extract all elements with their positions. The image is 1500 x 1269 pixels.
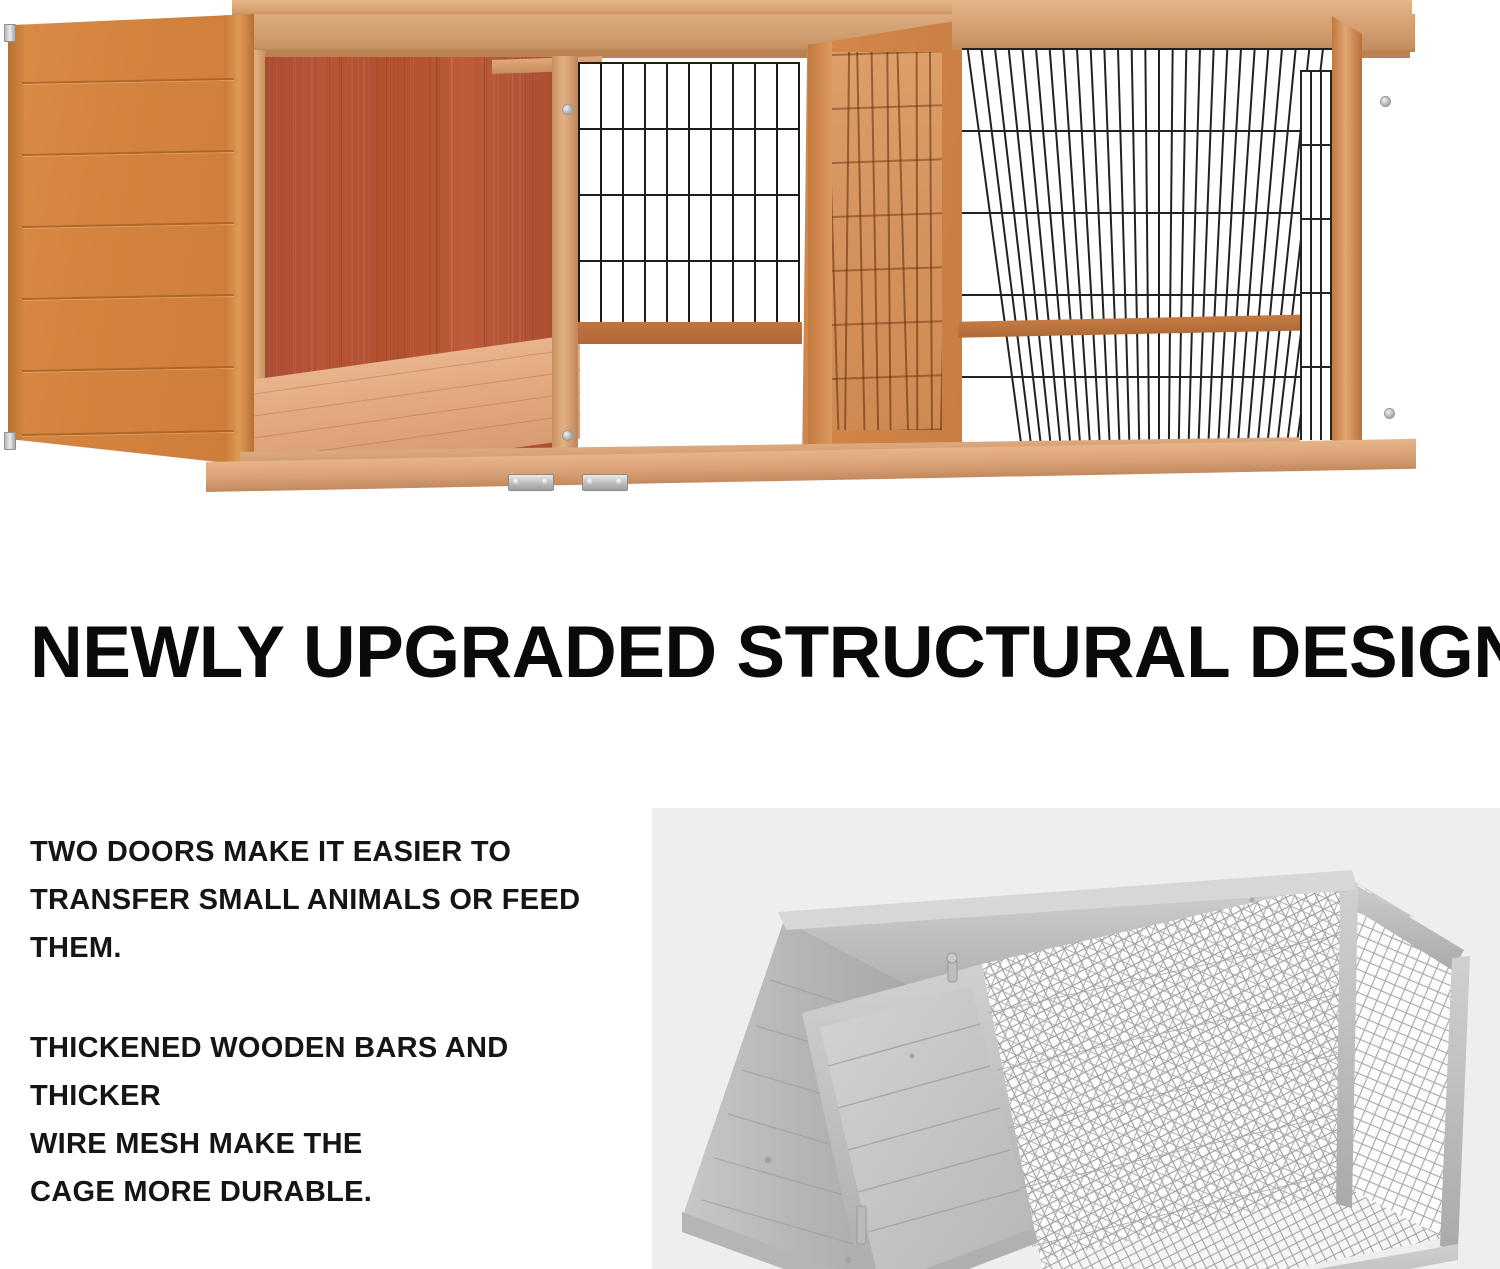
door-plank-line (22, 150, 234, 156)
door-hinge-pin-top (4, 24, 16, 42)
mesh-wire-vertical (1130, 48, 1142, 468)
mesh-wire-vertical (798, 62, 800, 330)
feature-2-line-1: THICKENED WOODEN BARS AND THICKER (30, 1024, 640, 1120)
feature-2-line-3: CAGE MORE DURABLE. (30, 1168, 640, 1216)
feature-1-line-1: TWO DOORS MAKE IT EASIER TO (30, 828, 640, 876)
mesh-wire-vertical (1158, 48, 1160, 468)
mesh-wire-vertical (870, 52, 880, 430)
open-wooden-door[interactable] (8, 14, 254, 466)
mesh-wire-vertical (1004, 48, 1059, 468)
door-plank-line (22, 430, 234, 436)
door-plank-line (22, 366, 234, 372)
door-plank-line (22, 294, 234, 300)
mesh-wire-vertical (1144, 48, 1151, 468)
door-plank-line (22, 222, 234, 228)
mesh-wire-horizontal (578, 194, 800, 196)
mesh-wire-vertical (622, 62, 624, 330)
center-vertical-post (552, 56, 578, 476)
mesh-wire-vertical (732, 62, 734, 330)
mesh-wire-vertical (929, 52, 933, 430)
mesh-door-pane (832, 52, 942, 430)
mesh-wire-vertical (600, 62, 602, 330)
mesh-wire-vertical (1300, 70, 1302, 440)
secondary-product-image (652, 808, 1500, 1269)
floor-plank-line (250, 392, 580, 439)
feature-text-block: TWO DOORS MAKE IT EASIER TO TRANSFER SMA… (30, 828, 640, 1216)
screw-head (562, 104, 573, 115)
wood-knot (765, 1157, 771, 1163)
door-hinge (857, 1206, 866, 1244)
floor-plank-line (250, 370, 580, 417)
run-end-post (1332, 16, 1362, 466)
wood-knot (845, 1257, 851, 1263)
wire-mesh-panel-middle (578, 62, 800, 330)
mesh-wire-vertical (1330, 70, 1332, 440)
mesh-wire-horizontal (578, 62, 800, 64)
mesh-wire-vertical (1088, 48, 1114, 468)
mesh-wire-vertical (1204, 48, 1230, 468)
page-title: NEWLY UPGRADED STRUCTURAL DESIGN (30, 616, 1480, 689)
mesh-wire-vertical (688, 62, 690, 330)
mesh-wire-horizontal (832, 374, 942, 380)
mesh-wire-vertical (962, 48, 1032, 468)
feature-2-line-2: WIRE MESH MAKE THE (30, 1120, 640, 1168)
mesh-wire-vertical (886, 52, 892, 430)
mesh-wire-vertical (776, 62, 778, 330)
mesh-wire-vertical (1320, 70, 1322, 440)
mesh-wire-vertical (1167, 48, 1174, 468)
open-mesh-door[interactable] (802, 18, 974, 468)
paragraph-spacer (30, 972, 640, 1024)
door-hinge-pin-bottom (4, 432, 16, 450)
door-plank-line (22, 78, 234, 84)
door-right-stile (224, 14, 254, 466)
mesh-wire-vertical (1176, 48, 1188, 468)
mesh-wire-horizontal (578, 128, 800, 130)
mesh-wire-vertical (578, 62, 580, 330)
mesh-door-left-stile (808, 28, 832, 458)
wood-knot (909, 1053, 914, 1058)
screw-head (1384, 408, 1395, 419)
mesh-wire-horizontal (962, 48, 1362, 50)
base-hinge-left (508, 474, 554, 491)
mesh-wire-horizontal (578, 260, 800, 262)
mesh-wire-vertical (754, 62, 756, 330)
mesh-wire-vertical (895, 52, 910, 430)
feature-1-line-2: TRANSFER SMALL ANIMALS OR FEED THEM. (30, 876, 640, 972)
screw-head (1380, 96, 1391, 107)
mesh-wire-horizontal (832, 266, 942, 272)
base-hinge-right (582, 474, 628, 491)
hero-product-image (0, 0, 1500, 600)
door-latch (947, 953, 957, 982)
mesh-wire-vertical (916, 52, 919, 430)
mesh-wire-vertical (666, 62, 668, 330)
mesh-wire-vertical (710, 62, 712, 330)
grey-aframe-hutch-illustration (652, 808, 1500, 1269)
mesh-wire-horizontal (832, 320, 942, 326)
wood-knot (1249, 897, 1254, 902)
mesh-wire-vertical (1310, 70, 1312, 440)
mesh-wire-vertical (644, 62, 646, 330)
screw-head (562, 430, 573, 441)
mesh-wire-horizontal (832, 428, 942, 430)
mesh-panel-bottom-rail (570, 322, 802, 344)
